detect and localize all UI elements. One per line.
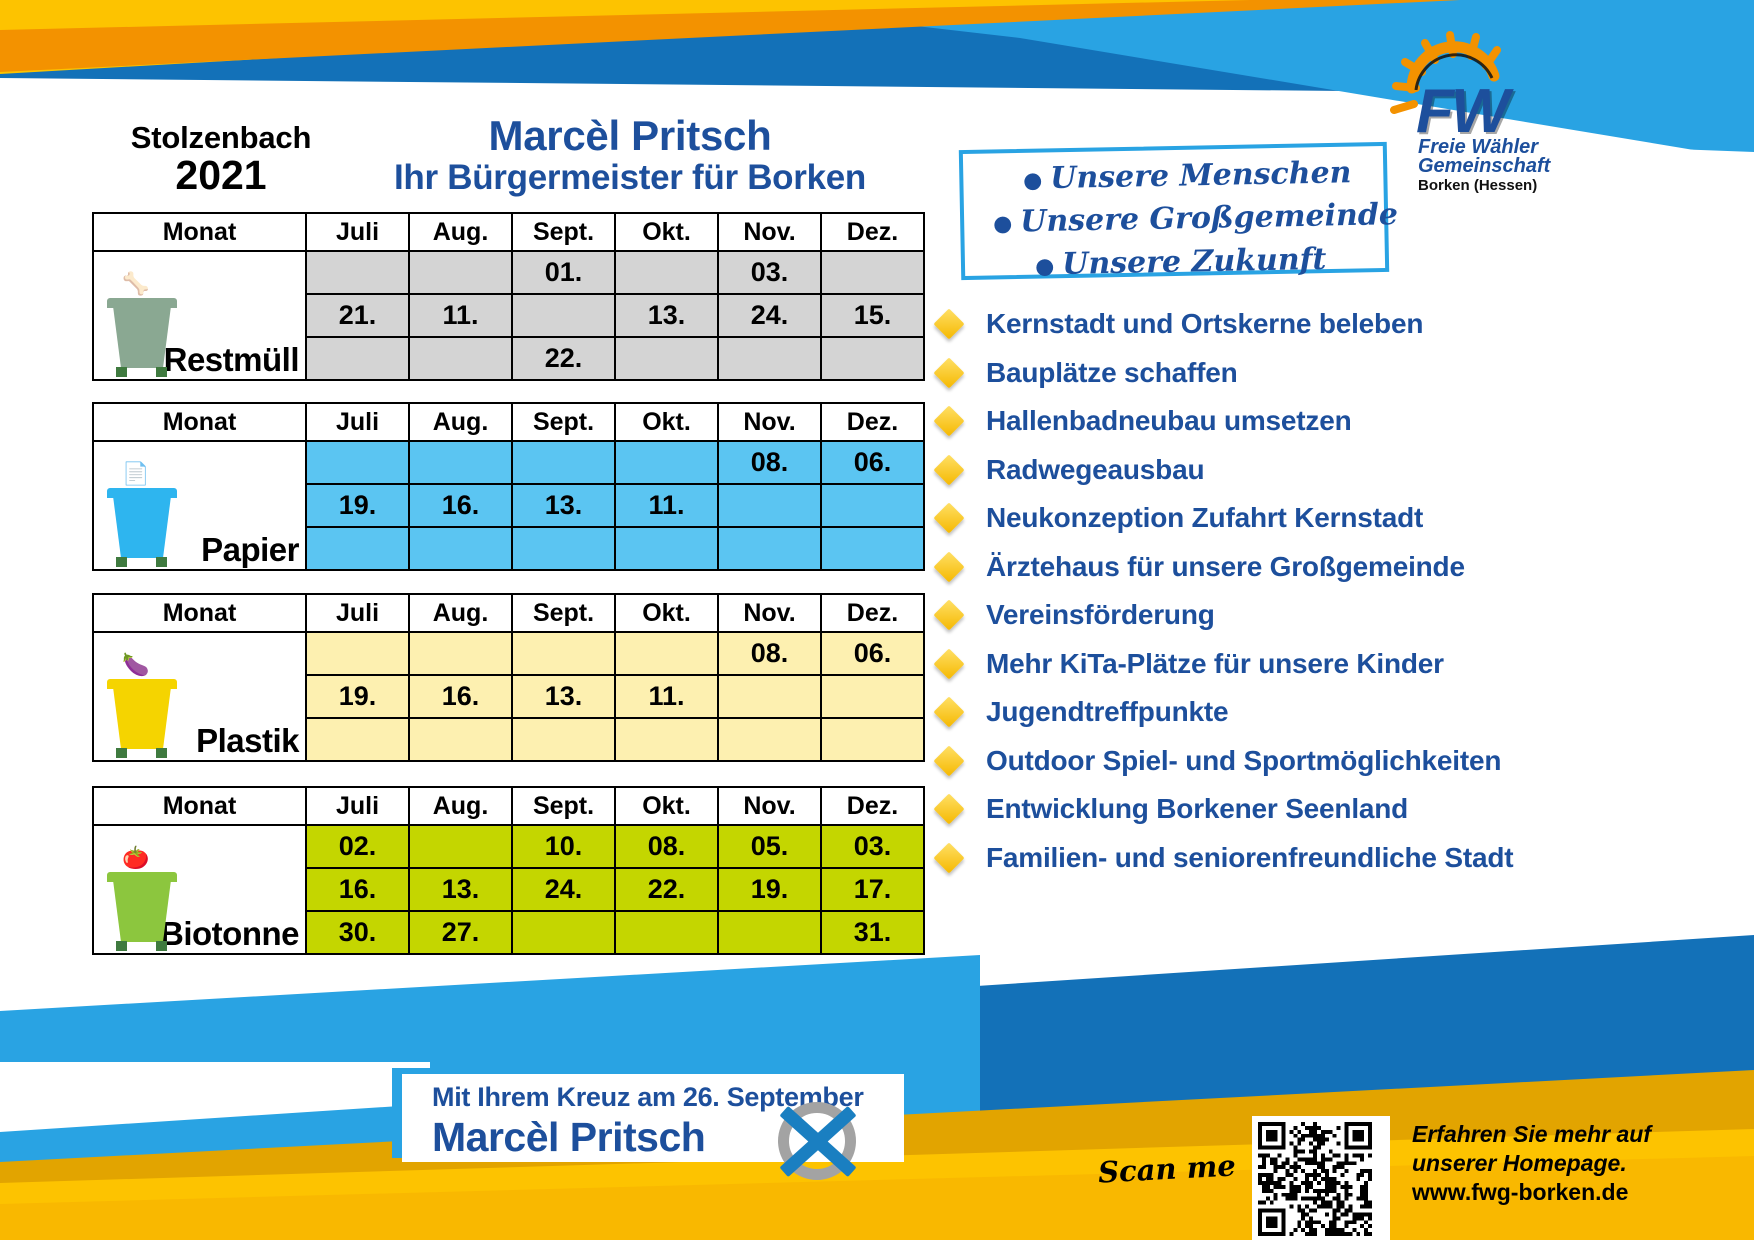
date-cell (821, 251, 924, 294)
date-cell (718, 337, 821, 380)
program-bullet-item: Ärztehaus für unsere Großgemeinde (938, 543, 1738, 592)
date-cell (615, 718, 718, 761)
diamond-bullet-icon (933, 794, 964, 825)
program-bullet-item: Neukonzeption Zufahrt Kernstadt (938, 494, 1738, 543)
date-cell: 02. (306, 825, 409, 868)
program-bullet-label: Mehr KiTa-Plätze für unsere Kinder (986, 648, 1444, 680)
date-cell (409, 632, 512, 675)
program-bullet-list: Kernstadt und Ortskerne belebenBauplätze… (938, 300, 1738, 882)
column-header-juli: Juli (306, 787, 409, 825)
date-cell (409, 251, 512, 294)
column-header-nov: Nov. (718, 213, 821, 251)
date-cell (821, 527, 924, 570)
column-header-okt: Okt. (615, 787, 718, 825)
calendar-table-biotonne: MonatJuliAug.Sept.Okt.Nov.Dez.🍅Biotonne0… (92, 786, 925, 955)
column-header-dez: Dez. (821, 213, 924, 251)
date-cell (409, 825, 512, 868)
program-bullet-label: Radwegeausbau (986, 454, 1204, 486)
date-cell (512, 632, 615, 675)
date-cell: 30. (306, 911, 409, 954)
column-header-okt: Okt. (615, 213, 718, 251)
table-header-row: MonatJuliAug.Sept.Okt.Nov.Dez. (93, 403, 924, 441)
date-cell: 16. (409, 484, 512, 527)
date-cell: 08. (718, 441, 821, 484)
date-cell: 31. (821, 911, 924, 954)
column-header-monat: Monat (93, 213, 306, 251)
date-cell (306, 632, 409, 675)
date-cell (615, 337, 718, 380)
date-cell: 01. (512, 251, 615, 294)
program-bullet-label: Entwicklung Borkener Seenland (986, 793, 1408, 825)
diamond-bullet-icon (933, 309, 964, 340)
diamond-bullet-icon (933, 503, 964, 534)
date-cell (615, 632, 718, 675)
place-name: Stolzenbach (106, 120, 336, 156)
date-cell: 06. (821, 441, 924, 484)
column-header-sept: Sept. (512, 403, 615, 441)
diamond-bullet-icon (933, 842, 964, 873)
date-cell: 15. (821, 294, 924, 337)
ballot-x-icon (778, 1102, 856, 1180)
date-cell (306, 441, 409, 484)
date-cell (512, 441, 615, 484)
calendar-table-plastik: MonatJuliAug.Sept.Okt.Nov.Dez.🍆Plastik08… (92, 593, 925, 762)
column-header-nov: Nov. (718, 403, 821, 441)
column-header-okt: Okt. (615, 594, 718, 632)
table-row: 🦴Restmüll01.03. (93, 251, 924, 294)
program-bullet-item: Entwicklung Borkener Seenland (938, 785, 1738, 834)
date-cell (409, 337, 512, 380)
plastic-bin-icon: 🍆 (104, 662, 182, 758)
date-cell (512, 718, 615, 761)
date-cell: 16. (306, 868, 409, 911)
column-header-monat: Monat (93, 594, 306, 632)
slogan-item-2: ●Unsere Zukunft (1035, 241, 1396, 283)
date-cell (306, 527, 409, 570)
diamond-bullet-icon (933, 600, 964, 631)
date-cell (718, 484, 821, 527)
column-header-dez: Dez. (821, 594, 924, 632)
bin-label-cell-plastik: 🍆Plastik (93, 632, 306, 761)
table-row: 📄Papier08.06. (93, 441, 924, 484)
diamond-bullet-icon (933, 454, 964, 485)
diamond-bullet-icon (933, 745, 964, 776)
program-bullet-item: Vereinsförderung (938, 591, 1738, 640)
date-cell (306, 251, 409, 294)
program-bullet-item: Radwegeausbau (938, 446, 1738, 495)
date-cell: 11. (615, 675, 718, 718)
program-bullet-label: Ärztehaus für unsere Großgemeinde (986, 551, 1465, 583)
program-bullet-item: Outdoor Spiel- und Sportmöglichkeiten (938, 737, 1738, 786)
date-cell (615, 441, 718, 484)
column-header-dez: Dez. (821, 787, 924, 825)
date-cell (409, 441, 512, 484)
diamond-bullet-icon (933, 406, 964, 437)
date-cell: 03. (821, 825, 924, 868)
program-bullet-label: Outdoor Spiel- und Sportmöglichkeiten (986, 745, 1501, 777)
date-cell (615, 911, 718, 954)
date-cell: 19. (306, 484, 409, 527)
vote-banner-line2: Marcèl Pritsch (432, 1114, 705, 1161)
slogan-item-1: ●Unsere Großgemeinde (993, 197, 1396, 240)
date-cell (512, 527, 615, 570)
bottom-white-notch (0, 1062, 430, 1132)
logo-line2: Gemeinschaft (1418, 157, 1550, 176)
slogan-item-0: ●Unsere Menschen (1023, 154, 1396, 196)
date-cell: 13. (615, 294, 718, 337)
date-cell (409, 718, 512, 761)
date-cell: 27. (409, 911, 512, 954)
column-header-aug: Aug. (409, 213, 512, 251)
column-header-okt: Okt. (615, 403, 718, 441)
fw-logo: FW Freie Wähler Gemeinschaft Borken (Hes… (1382, 14, 1572, 189)
column-header-sept: Sept. (512, 594, 615, 632)
date-cell: 08. (615, 825, 718, 868)
column-header-aug: Aug. (409, 787, 512, 825)
date-cell (306, 337, 409, 380)
date-cell: 22. (615, 868, 718, 911)
program-bullet-label: Familien- und seniorenfreundliche Stadt (986, 842, 1513, 874)
program-bullet-label: Hallenbadneubau umsetzen (986, 405, 1352, 437)
date-cell: 11. (409, 294, 512, 337)
column-header-aug: Aug. (409, 403, 512, 441)
column-header-sept: Sept. (512, 213, 615, 251)
date-cell: 22. (512, 337, 615, 380)
column-header-dez: Dez. (821, 403, 924, 441)
calendar-table-restmuell: MonatJuliAug.Sept.Okt.Nov.Dez.🦴Restmüll0… (92, 212, 925, 381)
column-header-juli: Juli (306, 594, 409, 632)
date-cell: 19. (306, 675, 409, 718)
date-cell (409, 527, 512, 570)
date-cell: 19. (718, 868, 821, 911)
column-header-sept: Sept. (512, 787, 615, 825)
date-cell: 03. (718, 251, 821, 294)
date-cell: 11. (615, 484, 718, 527)
date-cell (821, 675, 924, 718)
column-header-monat: Monat (93, 787, 306, 825)
program-bullet-item: Kernstadt und Ortskerne beleben (938, 300, 1738, 349)
table-row: 🍆Plastik08.06. (93, 632, 924, 675)
program-bullet-label: Vereinsförderung (986, 599, 1215, 631)
slogan-list: ●Unsere Menschen ●Unsere Großgemeinde ●U… (965, 140, 1395, 279)
candidate-name: Marcèl Pritsch (330, 112, 930, 160)
trash-bin-icon: 🦴 (104, 281, 182, 377)
program-bullet-item: Hallenbadneubau umsetzen (938, 397, 1738, 446)
date-cell (718, 911, 821, 954)
date-cell (821, 484, 924, 527)
bin-label-cell-papier: 📄Papier (93, 441, 306, 570)
date-cell: 24. (512, 868, 615, 911)
candidate-subtitle: Ihr Bürgermeister für Borken (280, 158, 980, 198)
date-cell (615, 527, 718, 570)
date-cell: 10. (512, 825, 615, 868)
bin-label-text: Plastik (196, 722, 299, 759)
date-cell: 08. (718, 632, 821, 675)
bin-label-text: Papier (201, 531, 299, 568)
program-bullet-item: Jugendtreffpunkte (938, 688, 1738, 737)
date-cell: 24. (718, 294, 821, 337)
column-header-nov: Nov. (718, 787, 821, 825)
bin-label-cell-restmuell: 🦴Restmüll (93, 251, 306, 380)
table-header-row: MonatJuliAug.Sept.Okt.Nov.Dez. (93, 787, 924, 825)
homepage-url[interactable]: www.fwg-borken.de (1412, 1178, 1651, 1207)
diamond-bullet-icon (933, 697, 964, 728)
column-header-nov: Nov. (718, 594, 821, 632)
date-cell: 13. (512, 484, 615, 527)
table-header-row: MonatJuliAug.Sept.Okt.Nov.Dez. (93, 213, 924, 251)
bio-bin-icon: 🍅 (104, 855, 182, 951)
date-cell: 13. (512, 675, 615, 718)
column-header-aug: Aug. (409, 594, 512, 632)
date-cell (821, 718, 924, 761)
date-cell: 16. (409, 675, 512, 718)
paper-bin-icon: 📄 (104, 471, 182, 567)
program-bullet-item: Familien- und seniorenfreundliche Stadt (938, 834, 1738, 883)
logo-line3: Borken (Hessen) (1418, 177, 1537, 194)
bin-label-text: Restmüll (164, 341, 299, 378)
table-row: 🍅Biotonne02.10.08.05.03. (93, 825, 924, 868)
column-header-juli: Juli (306, 213, 409, 251)
diamond-bullet-icon (933, 551, 964, 582)
date-cell (718, 718, 821, 761)
qr-code-icon (1252, 1116, 1390, 1240)
date-cell (821, 337, 924, 380)
program-bullet-label: Neukonzeption Zufahrt Kernstadt (986, 502, 1423, 534)
homepage-line2: unserer Homepage. (1412, 1149, 1651, 1178)
column-header-juli: Juli (306, 403, 409, 441)
bin-label-cell-biotonne: 🍅Biotonne (93, 825, 306, 954)
diamond-bullet-icon (933, 357, 964, 388)
date-cell (512, 911, 615, 954)
date-cell: 17. (821, 868, 924, 911)
date-cell: 13. (409, 868, 512, 911)
program-bullet-label: Bauplätze schaffen (986, 357, 1238, 389)
calendar-table-papier: MonatJuliAug.Sept.Okt.Nov.Dez.📄Papier08.… (92, 402, 925, 571)
scan-me-label: Scan me (1097, 1148, 1236, 1189)
date-cell (306, 718, 409, 761)
date-cell: 06. (821, 632, 924, 675)
column-header-monat: Monat (93, 403, 306, 441)
program-bullet-item: Mehr KiTa-Plätze für unsere Kinder (938, 640, 1738, 689)
table-header-row: MonatJuliAug.Sept.Okt.Nov.Dez. (93, 594, 924, 632)
homepage-line1: Erfahren Sie mehr auf (1412, 1120, 1651, 1149)
date-cell (718, 675, 821, 718)
program-bullet-label: Jugendtreffpunkte (986, 696, 1228, 728)
date-cell: 05. (718, 825, 821, 868)
date-cell (718, 527, 821, 570)
homepage-info: Erfahren Sie mehr auf unserer Homepage. … (1412, 1120, 1651, 1207)
program-bullet-item: Bauplätze schaffen (938, 349, 1738, 398)
diamond-bullet-icon (933, 648, 964, 679)
date-cell (615, 251, 718, 294)
program-bullet-label: Kernstadt und Ortskerne beleben (986, 308, 1423, 340)
date-cell: 21. (306, 294, 409, 337)
date-cell (512, 294, 615, 337)
